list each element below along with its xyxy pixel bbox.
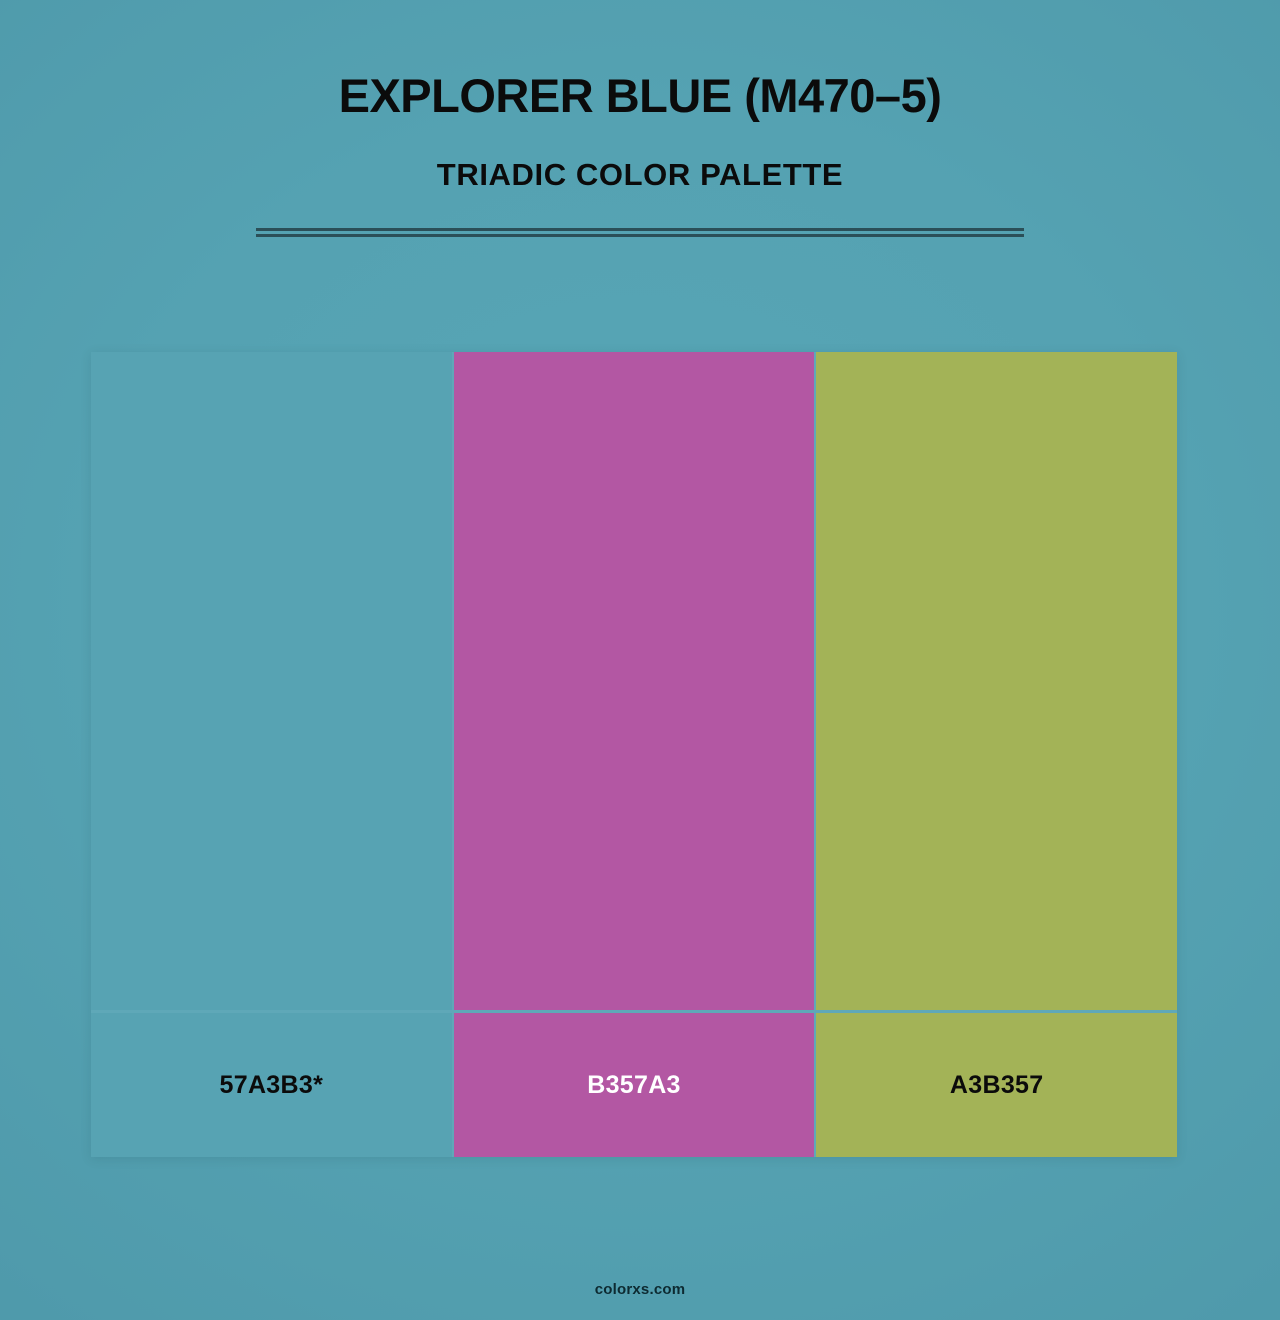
footer-site-name: colorxs.com: [0, 1281, 1280, 1298]
color-swatch-triadic-color-2[interactable]: [814, 352, 1177, 1010]
title-divider: [256, 228, 1024, 237]
palette-card: 57A3B3* B357A3 A3B357: [91, 352, 1177, 1157]
page-title: EXPLORER BLUE (M470–5): [0, 70, 1280, 122]
divider-rule-bottom: [256, 234, 1024, 237]
color-label-triadic-color-2[interactable]: A3B357: [814, 1013, 1177, 1157]
page-subtitle: TRIADIC COLOR PALETTE: [0, 158, 1280, 192]
divider-rule-top: [256, 228, 1024, 231]
color-swatch-base-color[interactable]: [91, 352, 452, 1010]
color-label-base-color[interactable]: 57A3B3*: [91, 1013, 452, 1157]
color-swatch-triadic-color-1[interactable]: [452, 352, 815, 1010]
swatch-row: [91, 352, 1177, 1010]
color-label-triadic-color-1[interactable]: B357A3: [452, 1013, 815, 1157]
swatch-label-row: 57A3B3* B357A3 A3B357: [91, 1010, 1177, 1157]
page-header: EXPLORER BLUE (M470–5) TRIADIC COLOR PAL…: [0, 0, 1280, 237]
